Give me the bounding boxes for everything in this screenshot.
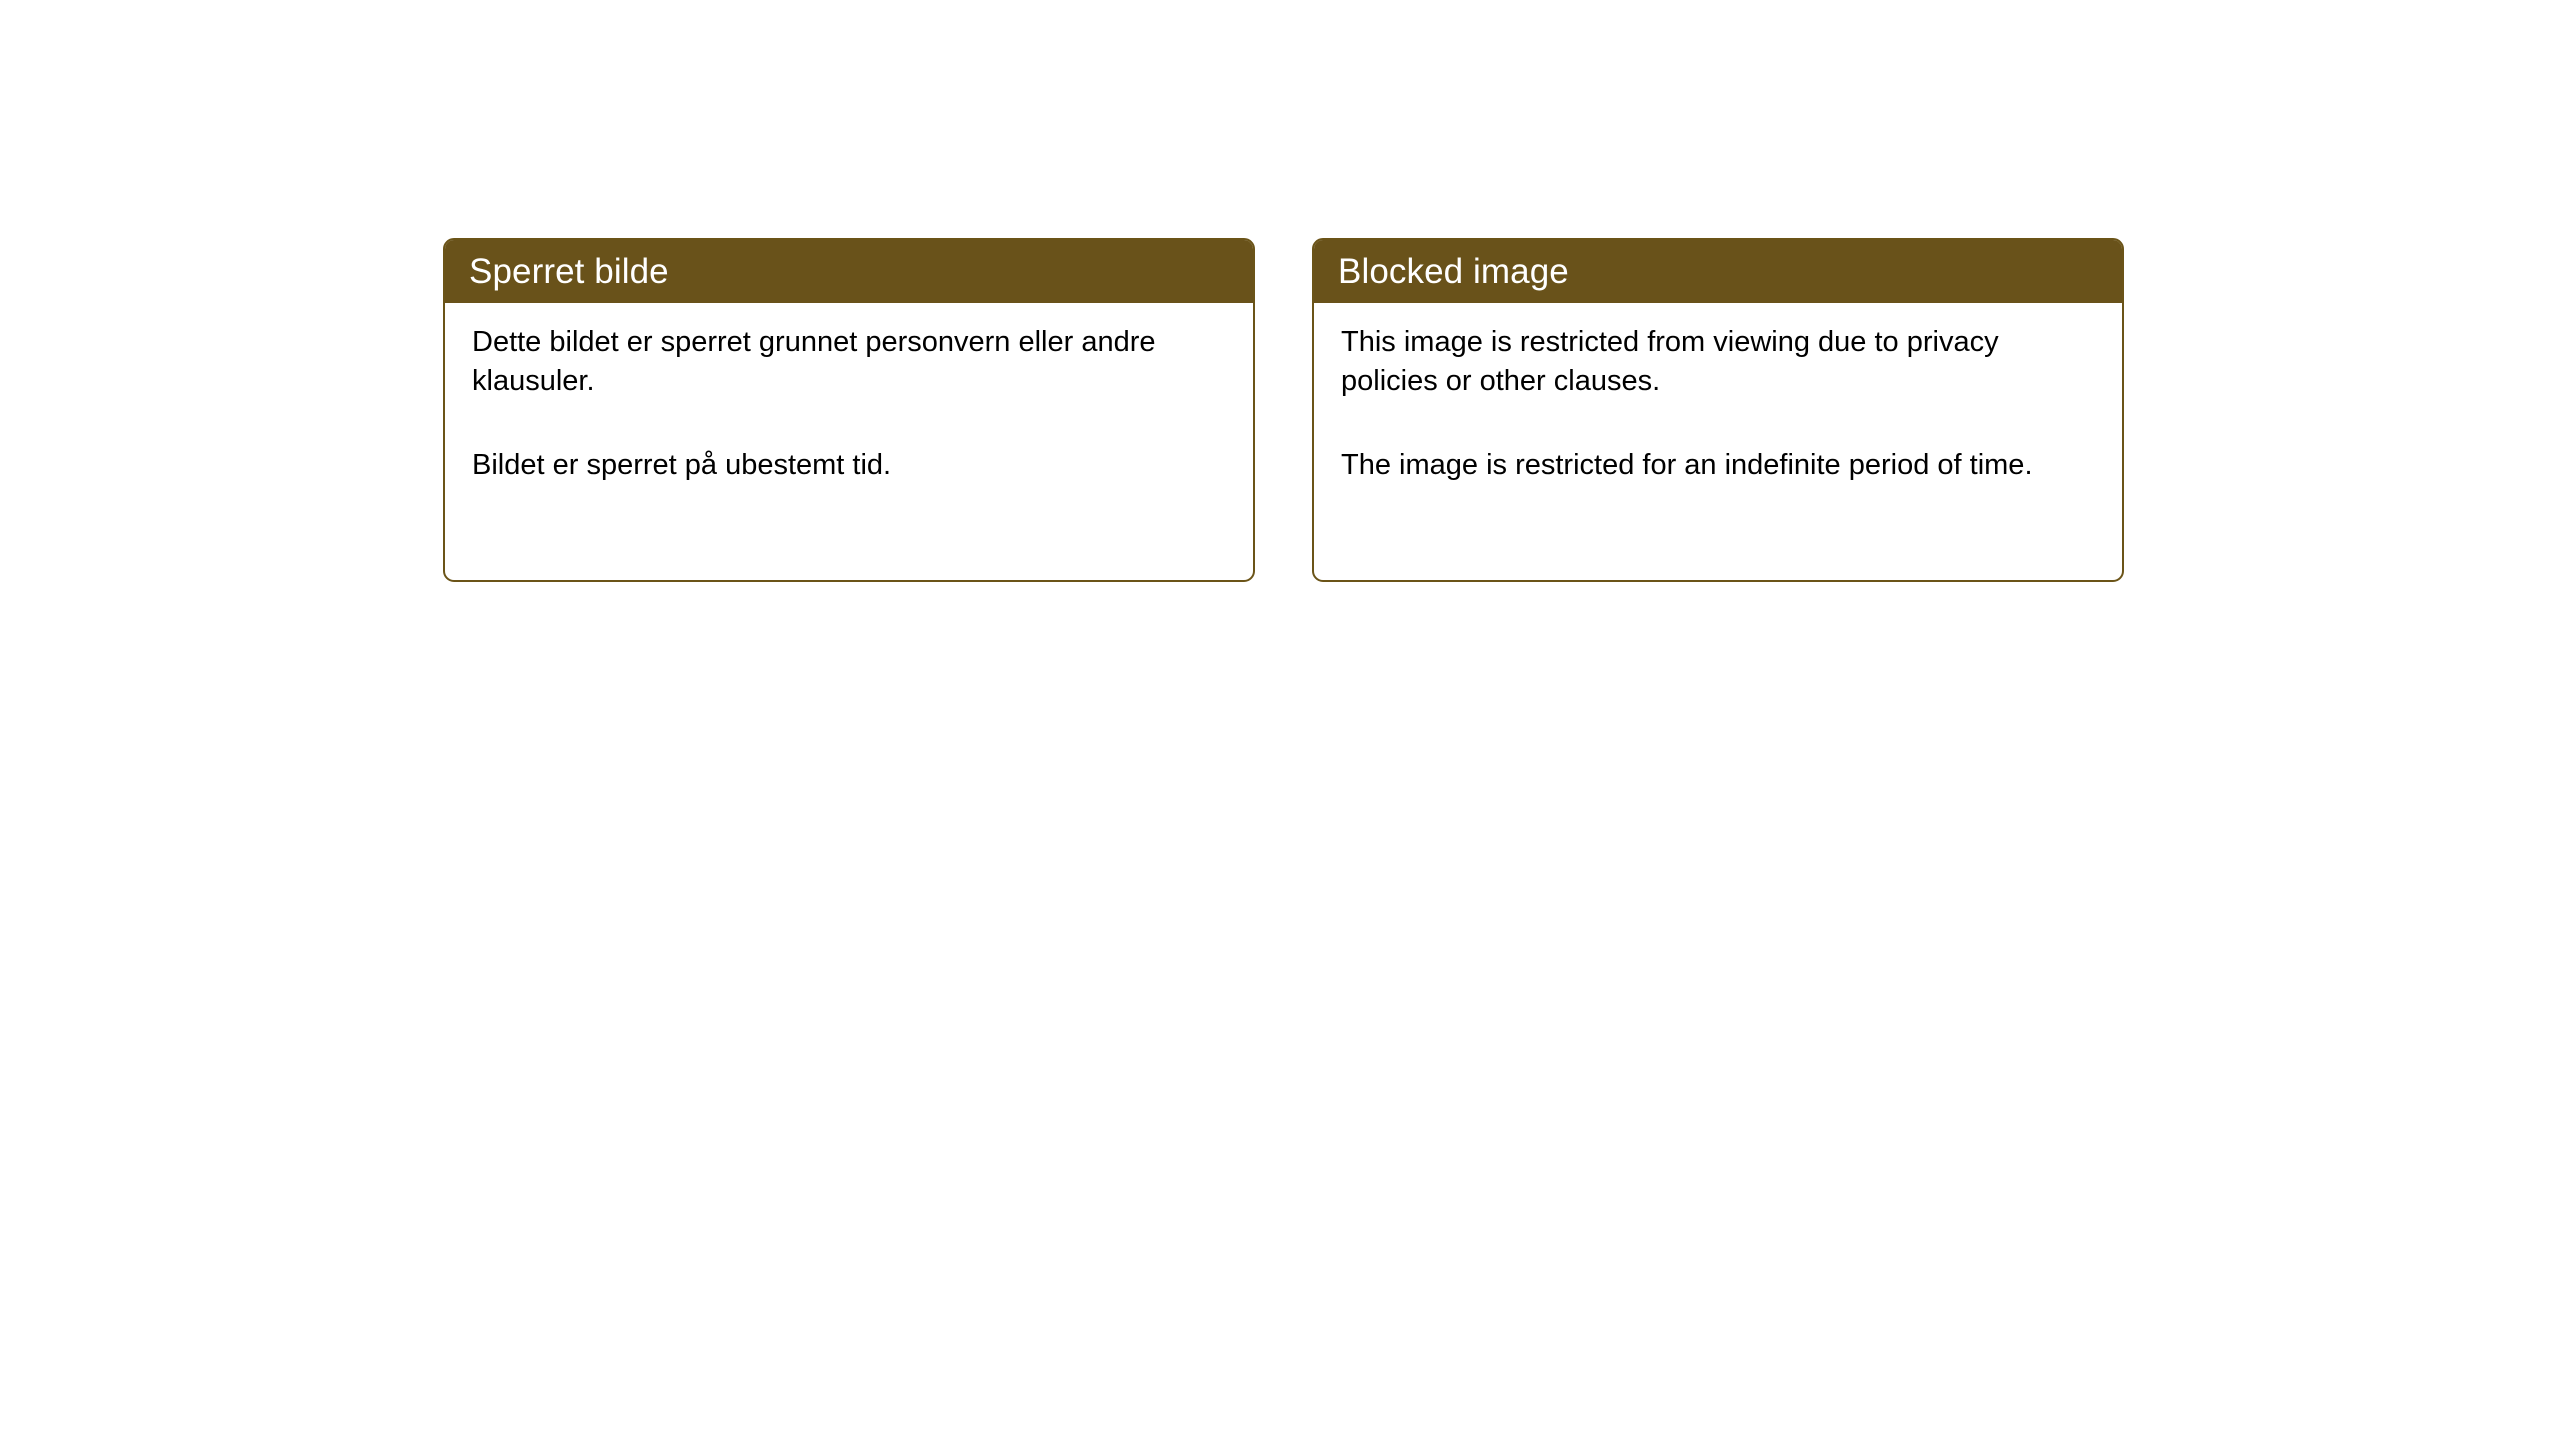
- blocked-image-notice-norwegian: Sperret bilde Dette bildet er sperret gr…: [443, 238, 1255, 582]
- card-body-english: This image is restricted from viewing du…: [1314, 303, 2122, 485]
- card-paragraph-secondary-norwegian: Bildet er sperret på ubestemt tid.: [472, 446, 1227, 485]
- card-title-norwegian: Sperret bilde: [469, 254, 669, 289]
- card-paragraph-primary-english: This image is restricted from viewing du…: [1341, 323, 2096, 401]
- card-body-norwegian: Dette bildet er sperret grunnet personve…: [445, 303, 1253, 485]
- card-title-english: Blocked image: [1338, 254, 1569, 289]
- card-paragraph-primary-norwegian: Dette bildet er sperret grunnet personve…: [472, 323, 1227, 401]
- page-canvas: Sperret bilde Dette bildet er sperret gr…: [0, 0, 2560, 1440]
- card-header-english: Blocked image: [1314, 240, 2122, 303]
- card-header-norwegian: Sperret bilde: [445, 240, 1253, 303]
- blocked-image-notice-english: Blocked image This image is restricted f…: [1312, 238, 2124, 582]
- card-paragraph-secondary-english: The image is restricted for an indefinit…: [1341, 446, 2096, 485]
